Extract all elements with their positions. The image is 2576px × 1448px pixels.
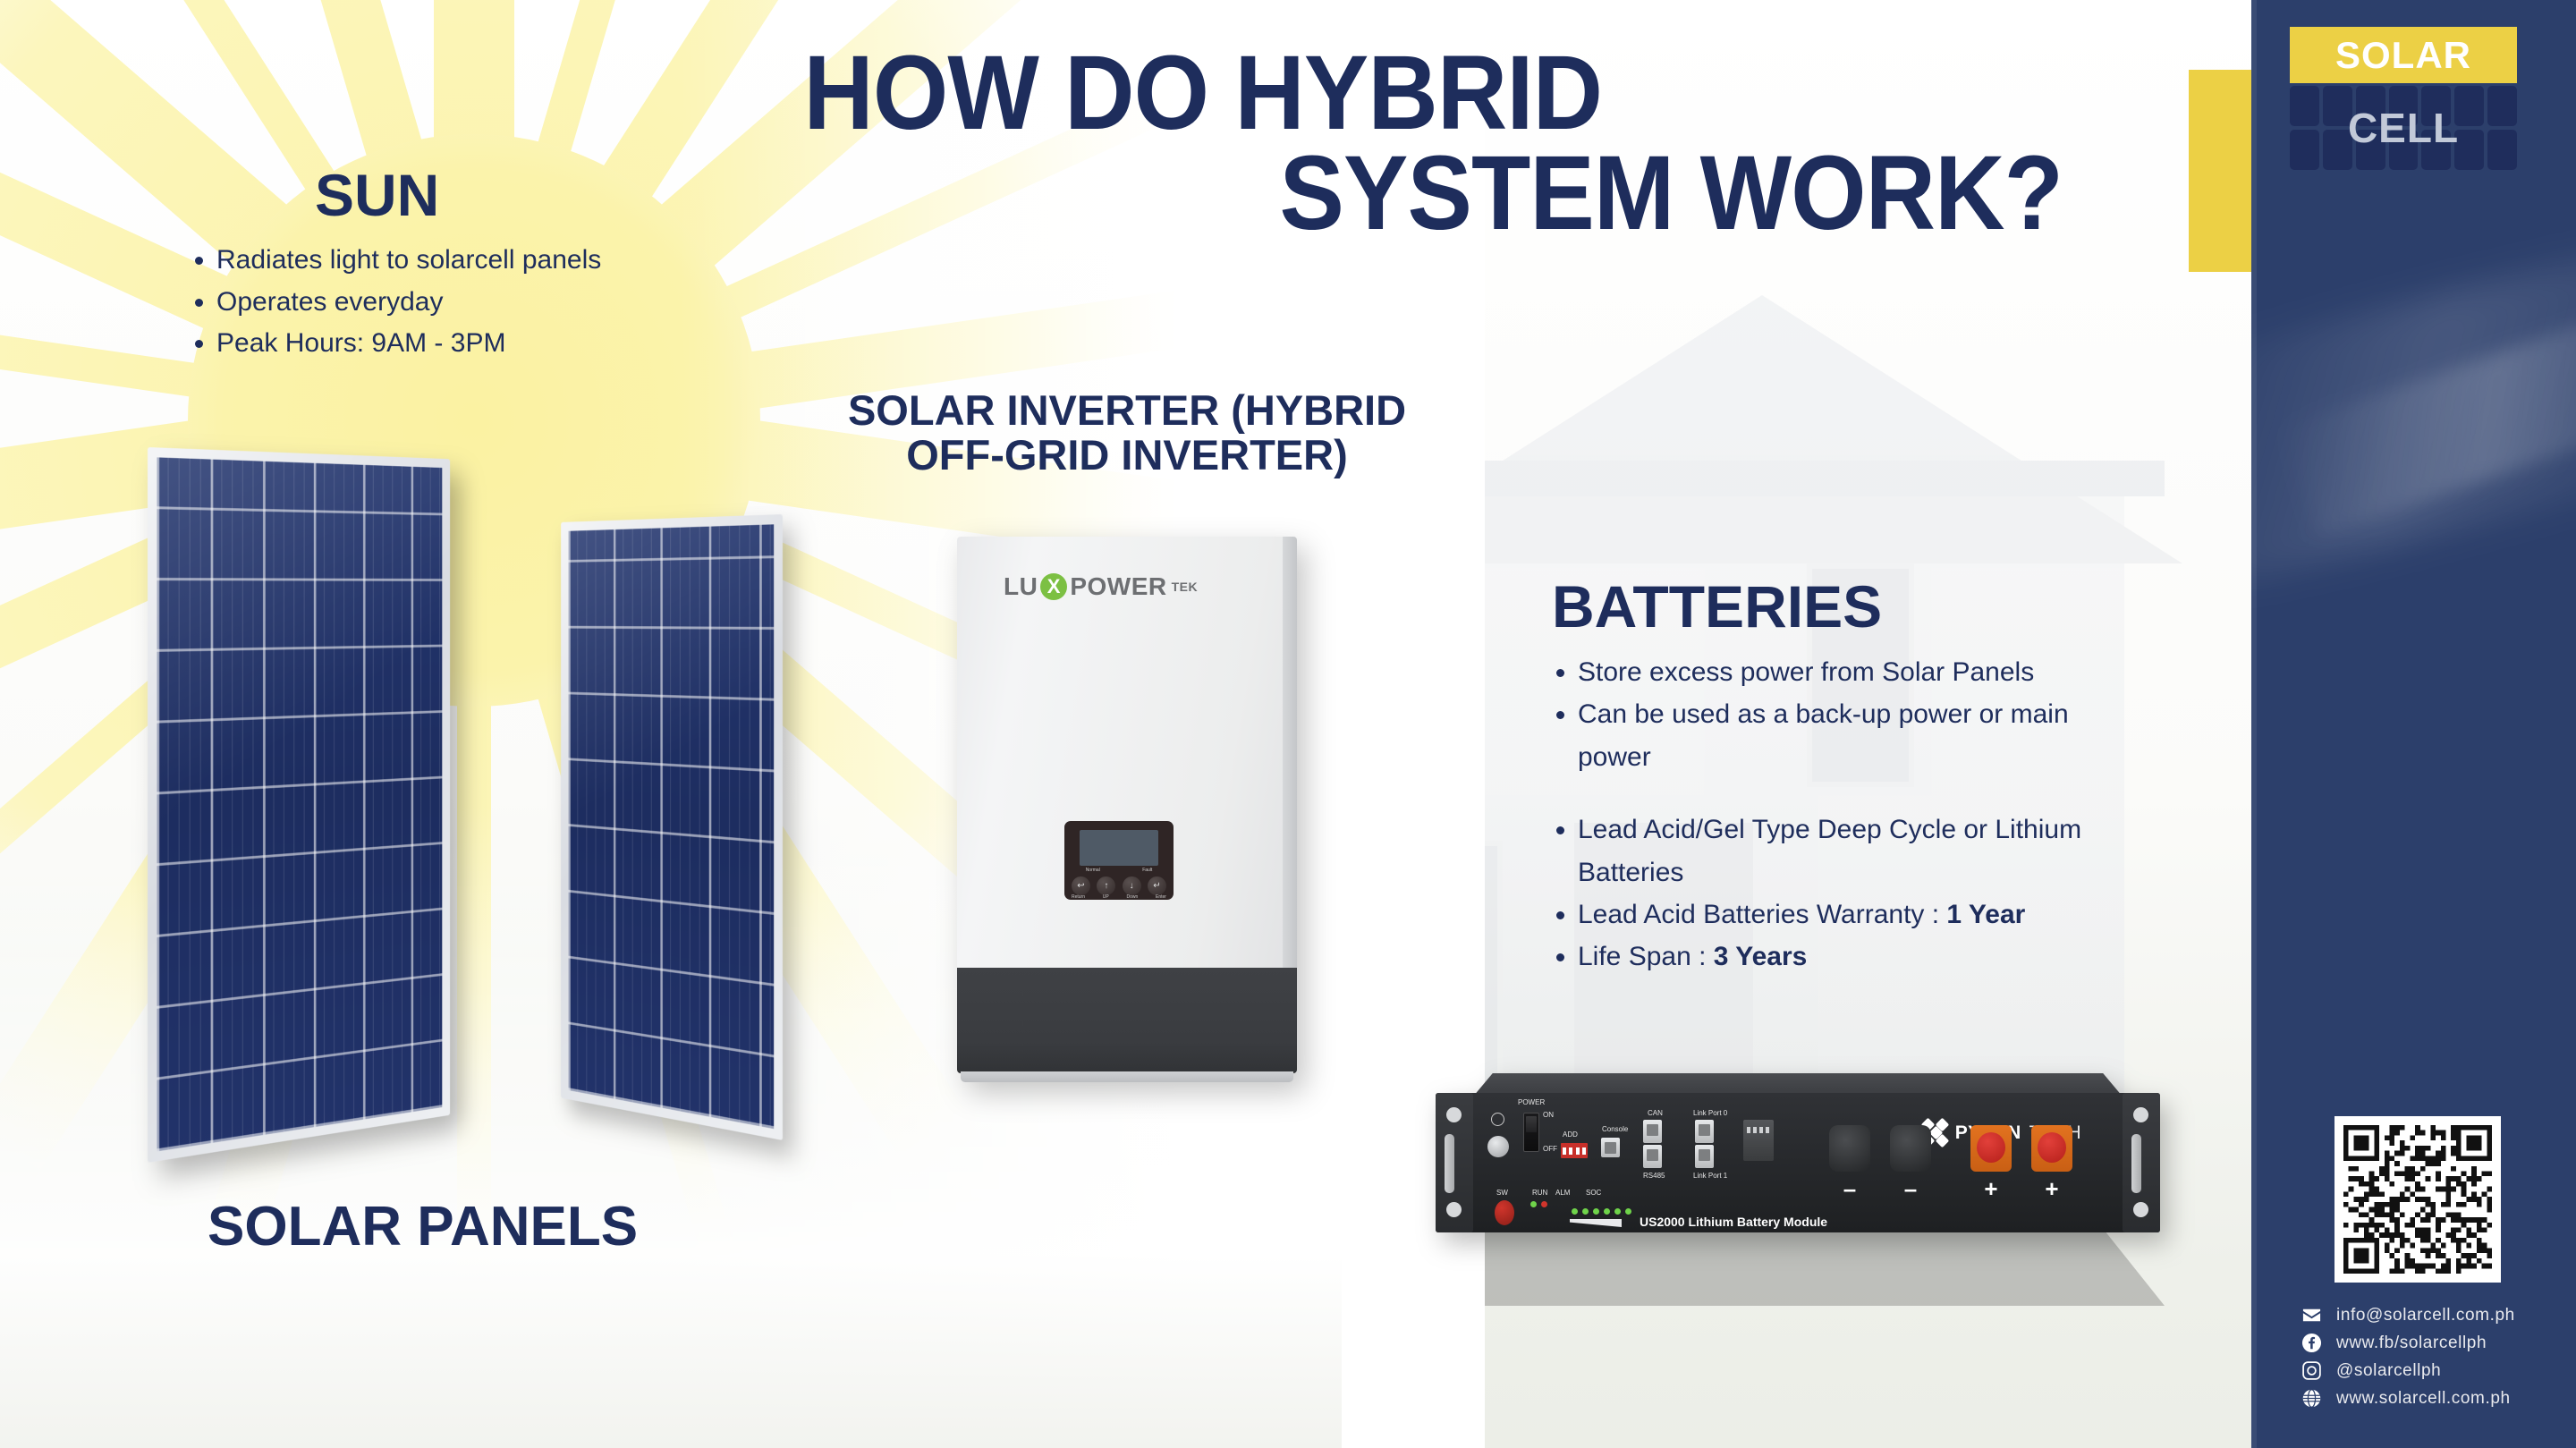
list-item: Peak Hours: 9AM - 3PM xyxy=(216,323,823,365)
positive-symbol: + xyxy=(1970,1177,2012,1200)
up-button[interactable]: ↑ xyxy=(1097,876,1115,895)
list-item: Can be used as a back-up power or main p… xyxy=(1578,693,2122,778)
battery-handle[interactable] xyxy=(2131,1134,2141,1193)
list-spacer xyxy=(1578,778,2122,809)
panel-cells xyxy=(157,457,442,1151)
rs485-label: RS485 xyxy=(1643,1172,1665,1180)
logo-solar-text: SOLAR xyxy=(2335,34,2471,77)
sun-heading: SUN xyxy=(315,161,439,229)
inverter-lcd-screen xyxy=(1080,830,1158,866)
website-icon xyxy=(2301,1387,2323,1410)
enter-label: Enter xyxy=(1156,894,1166,900)
rs485-port[interactable] xyxy=(1643,1145,1662,1168)
down-label: Down xyxy=(1126,894,1138,900)
soc-led-row xyxy=(1572,1208,1631,1215)
power-label: POWER xyxy=(1518,1098,1545,1106)
inverter-bottom-lip xyxy=(961,1071,1293,1082)
reset-button[interactable] xyxy=(1495,1200,1514,1225)
sidebar-edge-highlight xyxy=(2251,0,2257,1448)
inverter-button-row[interactable]: ↩ ↑ ↓ ↵ xyxy=(1072,876,1166,895)
rack-screw-hole xyxy=(2133,1107,2148,1122)
return-label: Return xyxy=(1072,894,1085,900)
contact-facebook[interactable]: www.fb/solarcellph xyxy=(2301,1329,2569,1357)
led-fault-label: Fault xyxy=(1142,868,1152,873)
luxpower-logo: LU X POWER TEK xyxy=(1004,572,1198,601)
luxpower-tek-text: TEK xyxy=(1172,580,1199,594)
contact-email-text: info@solarcell.com.ph xyxy=(2336,1306,2515,1325)
inverter-heading: SOLAR INVERTER (HYBRID OFF-GRID INVERTER… xyxy=(769,388,1485,478)
console-port[interactable] xyxy=(1601,1138,1620,1157)
title-line-2: SYSTEM WORK? xyxy=(787,143,2071,243)
panel-frame xyxy=(148,447,450,1163)
rack-screw-hole xyxy=(2133,1202,2148,1217)
soc-led xyxy=(1614,1208,1621,1215)
yellow-accent-bar xyxy=(2189,70,2253,272)
on-label: ON xyxy=(1543,1111,1554,1119)
sun-bullet-list: Radiates light to solarcell panels Opera… xyxy=(179,240,823,365)
inverter-heading-line-2: OFF-GRID INVERTER) xyxy=(906,431,1347,478)
battery-rack-ear-right xyxy=(2123,1093,2160,1232)
solarcell-logo[interactable]: SOLAR CELL xyxy=(2290,27,2517,170)
link-port-1[interactable] xyxy=(1695,1145,1714,1168)
battery-handle[interactable] xyxy=(1445,1134,1454,1193)
luxpower-lu-text: LU xyxy=(1004,572,1038,601)
off-label: OFF xyxy=(1543,1145,1557,1153)
logo-cell-text: CELL xyxy=(2290,86,2517,170)
address-dip-switch[interactable] xyxy=(1561,1143,1588,1158)
return-button[interactable]: ↩ xyxy=(1072,876,1090,895)
battery-rack-ear-left xyxy=(1436,1093,1473,1232)
batteries-bullet-list: Store excess power from Solar Panels Can… xyxy=(1540,651,2122,978)
console-label: Console xyxy=(1602,1125,1628,1133)
facebook-icon xyxy=(2301,1332,2323,1354)
soc-led xyxy=(1625,1208,1631,1215)
inverter-led-labels: Normal Fault xyxy=(1064,868,1174,873)
negative-terminal-2[interactable] xyxy=(1890,1125,1931,1172)
led-normal-label: Normal xyxy=(1086,868,1100,873)
sw-label: SW xyxy=(1496,1189,1508,1197)
qr-code[interactable] xyxy=(2334,1116,2501,1283)
negative-terminal-1[interactable] xyxy=(1829,1125,1870,1172)
inverter-heading-line-1: SOLAR INVERTER (HYBRID xyxy=(848,386,1406,434)
soc-label: SOC xyxy=(1586,1189,1601,1197)
pylontech-battery-unit: POWER ON OFF ADD Console CAN RS485 Link … xyxy=(1436,1073,2160,1252)
batteries-heading: BATTERIES xyxy=(1552,572,1882,640)
positive-terminal-1[interactable] xyxy=(1970,1125,2012,1172)
contact-instagram[interactable]: @solarcellph xyxy=(2301,1357,2569,1384)
solar-panel-left xyxy=(148,447,450,1163)
contact-email[interactable]: info@solarcell.com.ph xyxy=(2301,1301,2569,1329)
solar-panels-heading: SOLAR PANELS xyxy=(208,1195,638,1258)
power-switch[interactable] xyxy=(1523,1113,1539,1152)
alm-label: ALM xyxy=(1555,1189,1570,1197)
contact-website[interactable]: www.solarcell.com.ph xyxy=(2301,1384,2569,1412)
add-label: ADD xyxy=(1563,1130,1578,1139)
list-item-warranty: Lead Acid Batteries Warranty : 1 Year xyxy=(1578,893,2122,936)
soc-led xyxy=(1593,1208,1599,1215)
dry-contact-connector[interactable] xyxy=(1743,1120,1774,1161)
list-item: Lead Acid/Gel Type Deep Cycle or Lithium… xyxy=(1578,809,2122,893)
title-line-1: HOW DO HYBRID xyxy=(787,43,2071,143)
soc-led xyxy=(1582,1208,1589,1215)
luxpower-power-text: POWER xyxy=(1070,572,1166,601)
link-port-1-label: Link Port 1 xyxy=(1693,1172,1727,1180)
instagram-icon xyxy=(2301,1359,2323,1382)
list-item: Operates everyday xyxy=(216,282,823,324)
email-icon xyxy=(2301,1304,2323,1326)
inverter-bottom-section xyxy=(957,968,1297,1073)
logo-top-band: SOLAR xyxy=(2290,27,2517,83)
down-button[interactable]: ↓ xyxy=(1123,876,1141,895)
contact-facebook-text: www.fb/solarcellph xyxy=(2336,1334,2487,1353)
contact-instagram-text: @solarcellph xyxy=(2336,1361,2441,1381)
link-port-0[interactable] xyxy=(1695,1120,1714,1143)
solar-inverter-unit: LU X POWER TEK Normal Fault ↩ ↑ ↓ ↵ Retu… xyxy=(957,537,1297,1073)
alarm-led xyxy=(1541,1201,1547,1207)
rack-screw-hole xyxy=(1446,1107,1462,1122)
up-label: UP xyxy=(1103,894,1109,900)
infographic-poster: SOLAR CELL HOW DO HYBRID SYSTEM WORK? SU… xyxy=(0,0,2576,1448)
inverter-button-labels: Return UP Down Enter xyxy=(1072,894,1166,900)
qr-code-svg xyxy=(2343,1125,2492,1274)
negative-symbol: – xyxy=(1829,1177,1870,1200)
warranty-value: 1 Year xyxy=(1946,900,2025,929)
negative-symbol: – xyxy=(1890,1177,1931,1200)
link-port-0-label: Link Port 0 xyxy=(1693,1109,1727,1117)
run-label: RUN xyxy=(1532,1189,1547,1197)
battery-model-label: US2000 Lithium Battery Module xyxy=(1640,1215,1827,1229)
contact-list: info@solarcell.com.ph www.fb/solarcellph… xyxy=(2301,1301,2569,1412)
luxpower-x-icon: X xyxy=(1040,573,1067,600)
solar-panel-right xyxy=(561,514,783,1140)
positive-symbol: + xyxy=(2031,1177,2072,1200)
list-item-lifespan: Life Span : 3 Years xyxy=(1578,936,2122,978)
run-led xyxy=(1530,1201,1537,1207)
rack-screw-hole xyxy=(1446,1202,1462,1217)
can-label: CAN xyxy=(1648,1109,1663,1117)
lifespan-label: Life Span : xyxy=(1578,942,1714,971)
list-item: Store excess power from Solar Panels xyxy=(1578,651,2122,693)
warranty-label: Lead Acid Batteries Warranty : xyxy=(1578,900,1946,929)
lifespan-value: 3 Years xyxy=(1714,942,1808,971)
page-title: HOW DO HYBRID SYSTEM WORK? xyxy=(787,43,2071,243)
bnc-connector[interactable] xyxy=(1487,1136,1509,1157)
inverter-control-panel[interactable]: Normal Fault ↩ ↑ ↓ ↵ Return UP Down Ente… xyxy=(1064,821,1174,900)
soc-led xyxy=(1604,1208,1610,1215)
panel-frame xyxy=(561,514,783,1140)
ground-terminal-icon xyxy=(1491,1113,1504,1126)
status-led-row xyxy=(1530,1201,1547,1207)
contact-website-text: www.solarcell.com.ph xyxy=(2336,1389,2511,1409)
list-item: Radiates light to solarcell panels xyxy=(216,240,823,282)
positive-terminal-2[interactable] xyxy=(2031,1125,2072,1172)
can-port[interactable] xyxy=(1643,1120,1662,1143)
enter-button[interactable]: ↵ xyxy=(1148,876,1166,895)
panel-cells xyxy=(568,524,774,1129)
soc-led xyxy=(1572,1208,1578,1215)
